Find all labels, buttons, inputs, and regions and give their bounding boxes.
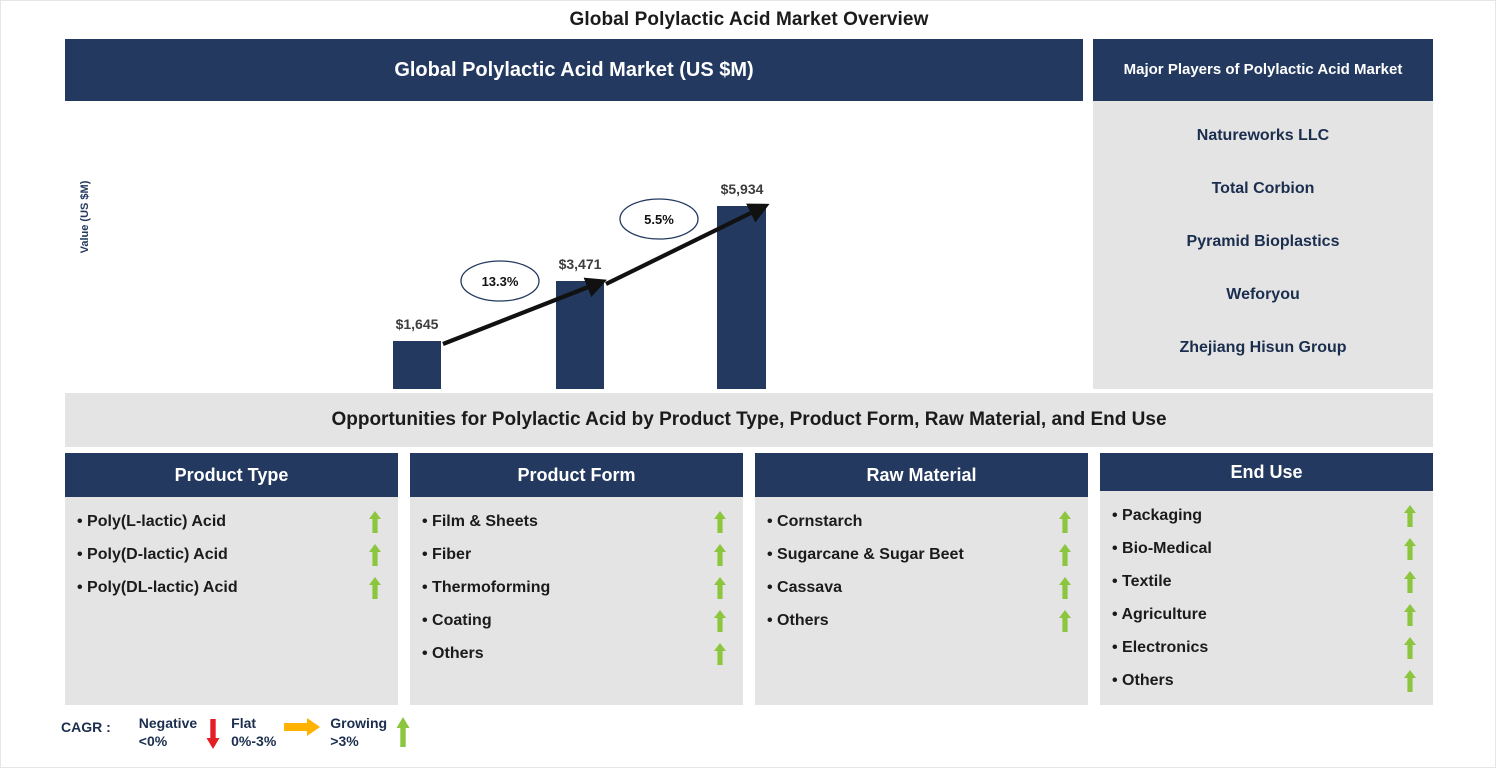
bar-value-2019: $1,645 <box>396 316 439 332</box>
list-item-label: • Agriculture <box>1112 606 1207 624</box>
arrow-up-icon <box>1403 604 1417 626</box>
chart-plot-area: Value (US $M) $1,645 $3,471 $5,934 2019 … <box>65 101 1083 389</box>
column-header: Product Form <box>410 453 743 497</box>
legend-entry-text: Growing >3% <box>330 715 387 750</box>
cagr-legend-label: CAGR : <box>61 719 111 735</box>
bar-chart-svg: $1,645 $3,471 $5,934 2019 2025 2035 <box>65 101 1083 389</box>
arrow-up-icon <box>1058 577 1072 599</box>
column-raw-material: Raw Material • Cornstarch • Sugarcane & … <box>755 453 1088 705</box>
arrow-right-icon <box>284 717 320 741</box>
list-item: • Cassava <box>767 571 1078 604</box>
list-item-label: • Sugarcane & Sugar Beet <box>767 546 964 564</box>
list-item-label: • Textile <box>1112 573 1172 591</box>
list-item: • Electronics <box>1112 631 1423 664</box>
arrow-up-icon <box>368 544 382 566</box>
cagr-legend: CAGR : Negative <0% Flat 0%-3% Growing >… <box>61 715 421 763</box>
major-players-list: Natureworks LLC Total Corbion Pyramid Bi… <box>1093 101 1433 389</box>
arrow-up-icon <box>1058 544 1072 566</box>
list-item-label: • Cornstarch <box>767 513 862 531</box>
legend-entry-name: Growing <box>330 715 387 733</box>
legend-entry-range: >3% <box>330 733 387 751</box>
arrow-up-icon <box>1403 670 1417 692</box>
list-item: Zhejiang Hisun Group <box>1103 339 1423 357</box>
list-item-label: • Cassava <box>767 579 842 597</box>
bar-2035 <box>717 206 766 389</box>
major-players-panel: Major Players of Polylactic Acid Market … <box>1093 39 1433 389</box>
list-item: • Thermoforming <box>422 571 733 604</box>
arrow-up-icon <box>395 717 411 749</box>
list-item-label: • Poly(D-lactic) Acid <box>77 546 228 564</box>
chart-panel-title: Global Polylactic Acid Market (US $M) <box>65 39 1083 101</box>
arrow-up-icon <box>1403 538 1417 560</box>
list-item: • Fiber <box>422 538 733 571</box>
bar-2019 <box>393 341 441 389</box>
infographic-page: Global Polylactic Acid Market Overview G… <box>0 0 1496 768</box>
column-product-form: Product Form • Film & Sheets • Fiber • T… <box>410 453 743 705</box>
list-item-label: • Others <box>767 612 829 630</box>
legend-entry-name: Negative <box>139 715 197 733</box>
list-item-label: • Electronics <box>1112 639 1208 657</box>
legend-entry-name: Flat <box>231 715 276 733</box>
list-item-label: • Others <box>1112 672 1174 690</box>
arrow-up-icon <box>368 577 382 599</box>
bar-value-2035: $5,934 <box>721 181 764 197</box>
legend-entry-negative: Negative <0% <box>139 715 221 750</box>
column-end-use: End Use • Packaging • Bio-Medical • Text… <box>1100 453 1433 705</box>
list-item-label: • Fiber <box>422 546 471 564</box>
cagr-callout-1-label: 13.3% <box>482 274 519 289</box>
arrow-up-icon <box>713 643 727 665</box>
opportunities-banner: Opportunities for Polylactic Acid by Pro… <box>65 393 1433 447</box>
arrow-up-icon <box>713 577 727 599</box>
arrow-up-icon <box>713 544 727 566</box>
list-item-label: • Bio-Medical <box>1112 540 1212 558</box>
list-item: Total Corbion <box>1103 180 1423 198</box>
list-item: • Poly(L-lactic) Acid <box>77 505 388 538</box>
legend-entry-text: Flat 0%-3% <box>231 715 276 750</box>
list-item-label: • Poly(L-lactic) Acid <box>77 513 226 531</box>
cagr-callout-2: 5.5% <box>620 199 698 239</box>
legend-entry-range: 0%-3% <box>231 733 276 751</box>
legend-entry-growing: Growing >3% <box>330 715 411 750</box>
market-chart-panel: Global Polylactic Acid Market (US $M) Va… <box>65 39 1083 389</box>
arrow-down-icon <box>205 717 221 749</box>
list-item-label: • Thermoforming <box>422 579 550 597</box>
list-item: Pyramid Bioplastics <box>1103 233 1423 251</box>
list-item: • Coating <box>422 604 733 637</box>
legend-entry-range: <0% <box>139 733 197 751</box>
bar-value-2025: $3,471 <box>559 256 602 272</box>
cagr-callout-2-label: 5.5% <box>644 212 674 227</box>
list-item: • Agriculture <box>1112 598 1423 631</box>
page-title: Global Polylactic Acid Market Overview <box>1 9 1496 31</box>
arrow-up-icon <box>713 610 727 632</box>
arrow-up-icon <box>1403 637 1417 659</box>
legend-entry-flat: Flat 0%-3% <box>231 715 320 750</box>
list-item: • Film & Sheets <box>422 505 733 538</box>
cagr-callout-1: 13.3% <box>461 261 539 301</box>
column-header: End Use <box>1100 453 1433 491</box>
list-item: • Packaging <box>1112 499 1423 532</box>
list-item-label: • Film & Sheets <box>422 513 538 531</box>
legend-entry-text: Negative <0% <box>139 715 197 750</box>
list-item: • Others <box>767 604 1078 637</box>
opportunity-columns: Product Type • Poly(L-lactic) Acid • Pol… <box>65 453 1433 705</box>
list-item: • Cornstarch <box>767 505 1078 538</box>
list-item-label: • Coating <box>422 612 492 630</box>
list-item: • Poly(D-lactic) Acid <box>77 538 388 571</box>
list-item: Weforyou <box>1103 286 1423 304</box>
arrow-up-icon <box>713 511 727 533</box>
arrow-up-icon <box>1058 511 1072 533</box>
column-product-type: Product Type • Poly(L-lactic) Acid • Pol… <box>65 453 398 705</box>
arrow-up-icon <box>1403 571 1417 593</box>
column-body: • Cornstarch • Sugarcane & Sugar Beet • … <box>755 497 1088 705</box>
major-players-title: Major Players of Polylactic Acid Market <box>1093 39 1433 101</box>
list-item: • Poly(DL-lactic) Acid <box>77 571 388 604</box>
column-body: • Poly(L-lactic) Acid • Poly(D-lactic) A… <box>65 497 398 705</box>
list-item: • Others <box>1112 664 1423 697</box>
list-item: • Bio-Medical <box>1112 532 1423 565</box>
list-item: Natureworks LLC <box>1103 127 1423 145</box>
column-body: • Packaging • Bio-Medical • Textile • Ag… <box>1100 491 1433 705</box>
list-item: • Textile <box>1112 565 1423 598</box>
list-item-label: • Packaging <box>1112 507 1202 525</box>
list-item: • Others <box>422 637 733 670</box>
arrow-up-icon <box>1058 610 1072 632</box>
list-item-label: • Others <box>422 645 484 663</box>
arrow-up-icon <box>1403 505 1417 527</box>
column-header: Raw Material <box>755 453 1088 497</box>
column-body: • Film & Sheets • Fiber • Thermoforming … <box>410 497 743 705</box>
column-header: Product Type <box>65 453 398 497</box>
list-item-label: • Poly(DL-lactic) Acid <box>77 579 238 597</box>
arrow-up-icon <box>368 511 382 533</box>
list-item: • Sugarcane & Sugar Beet <box>767 538 1078 571</box>
